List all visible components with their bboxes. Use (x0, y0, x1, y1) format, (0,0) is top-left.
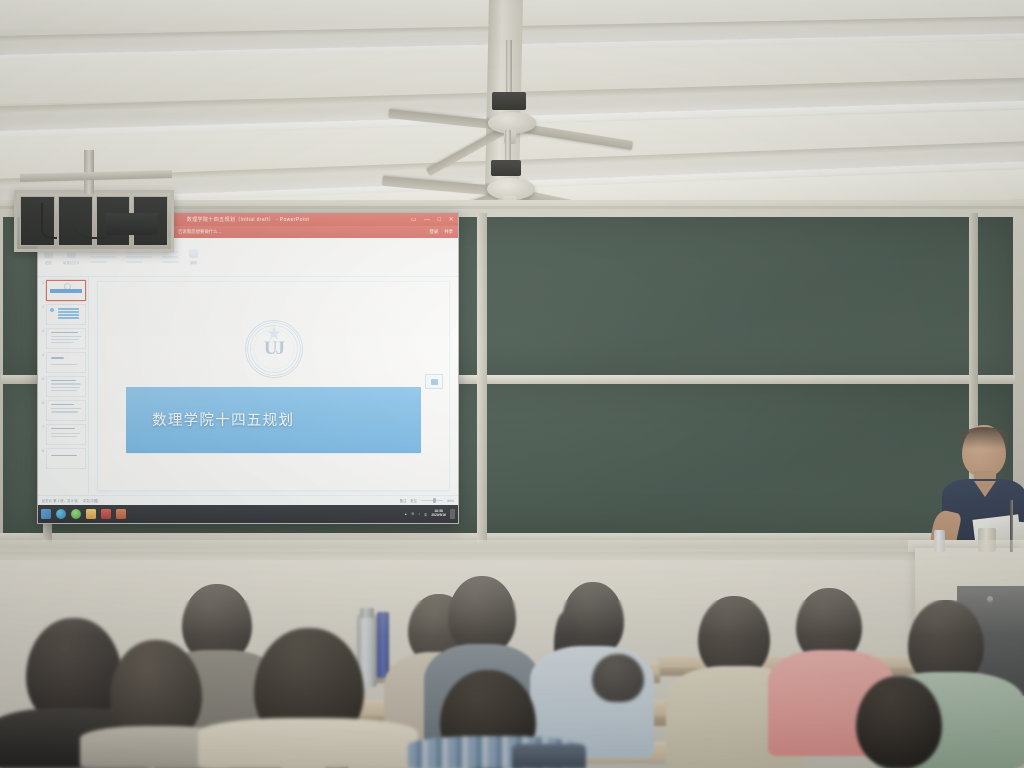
slide-preview[interactable] (46, 448, 86, 469)
font-control (90, 261, 107, 263)
university-seal-logo: UJ (245, 320, 303, 378)
slide-indicator: 幻灯片 第 1 张，共 8 张 (42, 498, 78, 503)
ribbon-group-drawing[interactable] (162, 251, 179, 263)
zoom-level[interactable]: 66% (447, 499, 454, 503)
fan-motor-housing (491, 160, 521, 176)
slide-thumbnail-8[interactable]: 8 (40, 448, 86, 469)
edge-browser-icon[interactable] (56, 509, 66, 519)
ribbon-group-font[interactable] (90, 251, 116, 263)
show-hidden-icons-icon[interactable]: ▲ (404, 512, 407, 516)
ribbon-group-label: 粘贴 (45, 260, 52, 265)
slide-thumbnail-2[interactable]: 2 (40, 304, 86, 325)
ribbon-group-label: 编辑 (190, 260, 197, 265)
wechat-icon[interactable] (71, 509, 81, 519)
sign-in-link[interactable]: 登录 (429, 229, 438, 235)
slide-thumbnail-5[interactable]: 5 (40, 376, 86, 397)
slide-number: 6 (40, 400, 44, 405)
fan-motor-housing (492, 92, 526, 110)
slide-thumbnail-pane[interactable]: 1 2 (38, 277, 89, 495)
microphone-stand (1010, 500, 1013, 552)
maximize-icon[interactable]: □ (438, 217, 442, 223)
title-band (50, 289, 82, 293)
window-title: 数理学院十四五规划（initial draft） - PowerPoint (187, 216, 310, 223)
slide-number: 1 (40, 280, 44, 285)
font-control (90, 256, 116, 258)
status-bar: 幻灯片 第 1 张，共 8 张 中文(中国) 备注 批注 66% (38, 495, 458, 505)
ribbon-group-editing[interactable]: 编辑 (189, 249, 198, 265)
slide-number: 7 (40, 424, 44, 429)
notes-button[interactable]: 备注 (400, 498, 407, 503)
attendee-glasses-head (448, 576, 516, 654)
slide-number: 5 (40, 376, 44, 381)
current-slide[interactable]: UJ 数理学院十四五规划 (97, 281, 450, 491)
minimize-icon[interactable]: — (424, 217, 430, 223)
slide-preview[interactable] (46, 400, 86, 421)
slide-title-band[interactable]: 数理学院十四五规划 (126, 387, 421, 453)
blackboard-mullion (477, 213, 487, 543)
presenter-hair (960, 427, 1008, 449)
powerpoint-window: 数理学院十四五规划（initial draft） - PowerPoint ▭ … (38, 213, 458, 523)
paragraph-control (126, 261, 143, 263)
attendee-white-shirt-torso (198, 718, 418, 768)
window-controls[interactable]: ▭ — □ ✕ (411, 213, 454, 226)
projector-body (105, 213, 157, 235)
slide-preview[interactable] (46, 304, 86, 325)
slide-thumbnail-6[interactable]: 6 (40, 400, 86, 421)
classroom-photo: 数理学院十四五规划（initial draft） - PowerPoint ▭ … (0, 0, 1024, 768)
close-icon[interactable]: ✕ (449, 216, 454, 223)
slide-thumbnail-3[interactable]: 3 (40, 328, 86, 349)
windows-start-button[interactable] (41, 509, 51, 519)
volume-icon[interactable]: ♪ (418, 512, 420, 516)
projection-screen: 数理学院十四五规划（initial draft） - PowerPoint ▭ … (37, 212, 459, 524)
zoom-slider[interactable] (421, 500, 443, 502)
system-tray[interactable]: ▲ ☰ ♪ 中 16:58 2020/9/16 (404, 509, 455, 519)
slide-preview[interactable] (46, 376, 86, 397)
slide-thumbnail-7[interactable]: 7 (40, 424, 86, 445)
slide-canvas[interactable]: UJ 数理学院十四五规划 (89, 277, 458, 495)
tell-me-search-box[interactable]: 告诉我您想要做什么... (178, 229, 221, 235)
slide-preview[interactable] (46, 328, 86, 349)
share-button[interactable]: 共享 (444, 229, 453, 235)
seal-ring-icon (246, 321, 302, 377)
slide-number: 8 (40, 448, 44, 453)
pdf-reader-icon[interactable] (101, 509, 111, 519)
taskbar-clock[interactable]: 16:58 2020/9/16 (431, 510, 446, 518)
slide-thumbnail-1[interactable]: 1 (40, 280, 86, 301)
network-icon[interactable]: ☰ (411, 512, 414, 516)
drawing-control (162, 256, 179, 258)
find-icon[interactable] (189, 249, 198, 258)
attendee-head (592, 654, 644, 702)
slide-number: 2 (40, 304, 44, 309)
slide-number: 3 (40, 328, 44, 333)
slide-preview[interactable] (46, 352, 86, 373)
file-explorer-icon[interactable] (86, 509, 96, 519)
slide-preview[interactable] (46, 280, 86, 301)
slide-preview[interactable] (46, 424, 86, 445)
clipboard-icon (431, 379, 438, 385)
attendee-head (856, 676, 942, 768)
show-desktop-button[interactable] (450, 509, 455, 519)
chalk-tray (0, 533, 1024, 545)
projector-security-cage (14, 190, 174, 252)
slide-title: 数理学院十四五规划 (152, 409, 294, 430)
input-method-icon[interactable]: 中 (424, 512, 427, 517)
editor-body: 1 2 (38, 277, 458, 495)
clock-date: 2020/9/16 (431, 514, 446, 518)
slide-thumbnail-4[interactable]: 4 (40, 352, 86, 373)
panel-indicator-light (987, 596, 993, 602)
thermos-cap (360, 608, 374, 618)
drawing-control (162, 261, 179, 263)
ribbon-group-paragraph[interactable] (126, 251, 152, 263)
windows-taskbar[interactable]: ▲ ☰ ♪ 中 16:58 2020/9/16 (38, 505, 458, 523)
blue-water-bottle (377, 612, 389, 678)
power-cable (41, 203, 57, 239)
podium-water-bottle (934, 530, 945, 552)
paragraph-control (126, 256, 152, 258)
comments-button[interactable]: 批注 (410, 498, 417, 503)
attendee-bag (512, 744, 586, 768)
paste-options-button[interactable] (425, 374, 443, 389)
podium-cup (978, 528, 996, 552)
ribbon-display-options-icon[interactable]: ▭ (411, 216, 417, 223)
language-indicator[interactable]: 中文(中国) (83, 498, 99, 503)
slide-number: 4 (40, 352, 44, 357)
powerpoint-icon[interactable] (116, 509, 126, 519)
ribbon-group-label: 新建幻灯片 (63, 260, 80, 265)
